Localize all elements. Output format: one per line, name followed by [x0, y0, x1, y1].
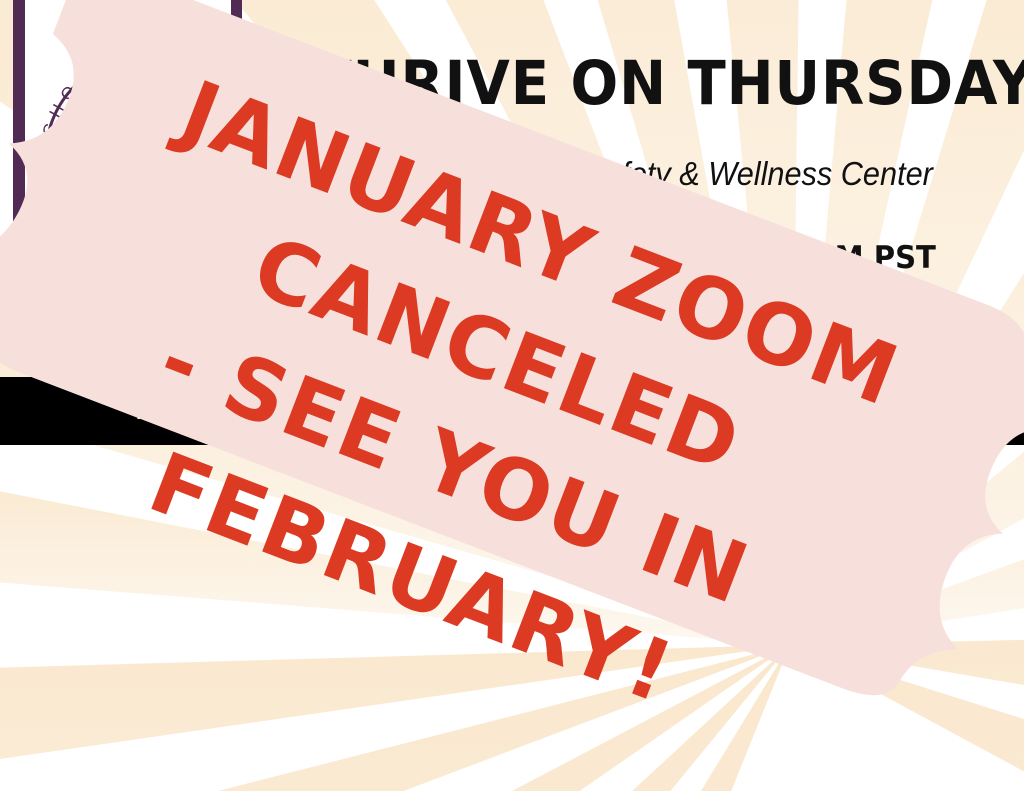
svg-text:ional: ional [164, 182, 199, 199]
banner-next-label: Next [135, 393, 197, 427]
school-safety-seal-icon: CHOOL SAFETY ional [30, 35, 255, 260]
page-title: THRIVE ON THURSDAYS [313, 53, 966, 114]
zoom-url-link[interactable]: ZOOM.US/J/82089269805 [321, 298, 979, 334]
svg-text:CHOOL SAFETY: CHOOL SAFETY [39, 47, 231, 139]
card-border-left [13, 0, 25, 344]
zoom-time-line: JOIN US ON ZOOM AT 11:00AM PST [321, 240, 979, 276]
poster-canvas: CHOOL SAFETY ional THRIVE ON THURSDAYS w… [0, 0, 1024, 791]
page-subtitle: with the School Safety & Wellness Center [325, 155, 976, 193]
banner-time-label: 11:00am [745, 391, 867, 428]
card-border-bottom [13, 329, 143, 344]
school-safety-logo: CHOOL SAFETY ional [30, 35, 255, 260]
